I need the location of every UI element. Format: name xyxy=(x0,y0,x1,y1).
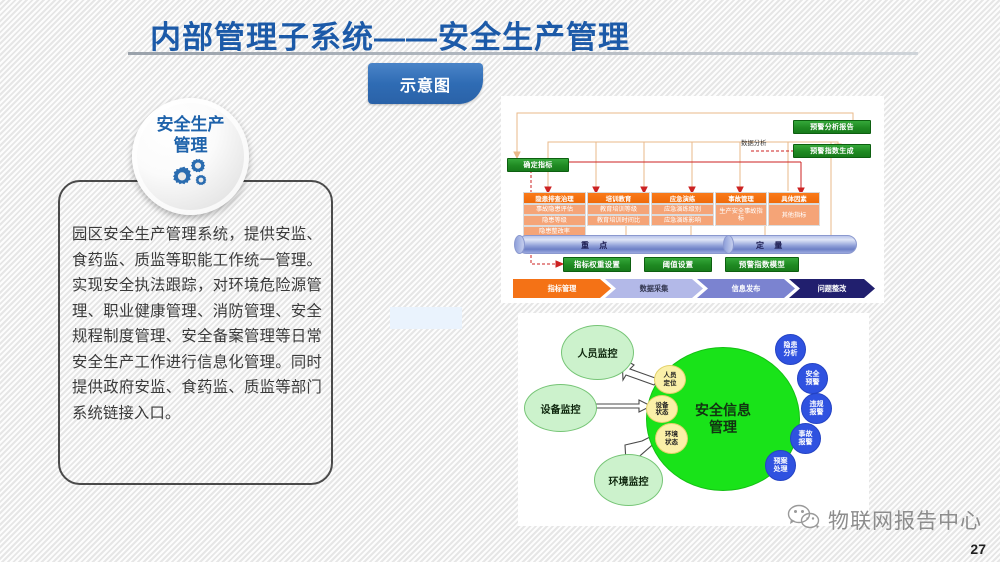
watermark: 物联网报告中心 xyxy=(787,504,982,536)
watermark-text: 物联网报告中心 xyxy=(828,505,982,535)
process-step-0-label: 指标管理 xyxy=(548,284,577,294)
description-text: 园区安全生产管理系统，提供安监、食药监、质监等职能工作统一管理。实现安全执法跟踪… xyxy=(72,222,322,426)
tab-schematic[interactable]: 示意图 xyxy=(368,63,483,104)
setting-box-1: 阈值设置 xyxy=(644,257,712,272)
state-bubble-1-line-1: 设备 xyxy=(656,402,669,410)
output-bubble-1-line-2: 预警 xyxy=(806,379,820,387)
state-bubble-1: 设备 状态 xyxy=(646,395,678,423)
report-box-1-label: 预警指数生成 xyxy=(810,146,854,156)
safety-info-bubble-diagram: 安全信息 管理 人员监控 设备监控 环境监控 人员 定位 设备 状态 环境 xyxy=(518,313,869,526)
state-bubble-0: 人员 定位 xyxy=(654,365,686,394)
column-sub-4-0: 其他指标 xyxy=(768,204,820,226)
column-sub-1-0: 教育培训等级 xyxy=(587,204,650,215)
setting-box-0-label: 指标权重设置 xyxy=(574,259,620,270)
state-bubble-1-line-2: 状态 xyxy=(656,409,669,417)
setting-box-0: 指标权重设置 xyxy=(563,257,631,272)
monitor-bubble-2: 环境监控 xyxy=(594,454,663,506)
monitor-bubble-2-label: 环境监控 xyxy=(609,473,649,488)
column-head-4-label: 具体因素 xyxy=(781,194,807,203)
report-box-1: 预警指数生成 xyxy=(793,144,871,158)
state-bubble-2: 环境 状态 xyxy=(655,423,688,454)
output-bubble-0-line-1: 隐患 xyxy=(784,342,798,350)
column-sub-0-1-label: 隐患等级 xyxy=(542,217,567,224)
process-step-2-label: 信息发布 xyxy=(732,284,761,294)
output-bubble-4: 预案 处理 xyxy=(765,450,796,481)
cylinder-cap-mid xyxy=(723,235,734,254)
column-head-0: 隐患排查治理 xyxy=(523,192,586,204)
setting-box-2: 预警指数模型 xyxy=(725,257,799,272)
section-badge: 安全生产 管理 xyxy=(132,98,249,215)
column-sub-3-0: 生产安全事故指标 xyxy=(715,204,767,226)
setting-box-2-label: 预警指数模型 xyxy=(739,259,785,270)
process-step-1-label: 数据采集 xyxy=(640,284,669,294)
core-line-2: 管理 xyxy=(695,419,751,436)
column-sub-4-0-label: 其他指标 xyxy=(782,212,807,219)
indicator-flow-diagram: 确定指标 数据分析 预警分析报告 预警指数生成 隐患排查治理 事故隐患评估 隐患… xyxy=(501,96,884,303)
output-bubble-0-line-2: 分析 xyxy=(784,350,798,358)
process-step-1: 数据采集 xyxy=(605,279,703,298)
cylinder-bar xyxy=(517,235,857,254)
column-sub-1-1-label: 教育培训时间比 xyxy=(597,217,640,224)
column-head-2: 应急演练 xyxy=(651,192,714,204)
column-head-1: 培训教育 xyxy=(587,192,650,204)
cylinder-cap-left xyxy=(514,235,525,254)
column-sub-0-0-label: 事故隐患评估 xyxy=(536,206,573,213)
output-bubble-4-line-2: 处理 xyxy=(774,466,788,474)
process-step-3: 问题整改 xyxy=(789,279,875,298)
report-box-0-label: 预警分析报告 xyxy=(810,122,854,132)
column-sub-0-1: 隐患等级 xyxy=(523,215,586,226)
state-bubble-0-line-1: 人员 xyxy=(664,372,677,380)
badge-line-2: 管理 xyxy=(174,135,208,156)
state-bubble-2-line-1: 环境 xyxy=(665,431,678,439)
tab-label: 示意图 xyxy=(400,72,451,96)
cylinder-label-1: 定 量 xyxy=(756,240,786,251)
column-head-2-label: 应急演练 xyxy=(670,194,696,203)
monitor-bubble-1-label: 设备监控 xyxy=(541,401,581,416)
output-bubble-2: 违规 报警 xyxy=(801,393,832,424)
output-bubble-1: 安全 预警 xyxy=(797,363,828,394)
page-number: 27 xyxy=(970,541,986,557)
data-analysis-label: 数据分析 xyxy=(741,138,767,147)
schematic-top-panel: 确定指标 数据分析 预警分析报告 预警指数生成 隐患排查治理 事故隐患评估 隐患… xyxy=(501,96,884,303)
state-bubble-0-line-2: 定位 xyxy=(664,380,677,388)
process-step-0: 指标管理 xyxy=(513,279,611,298)
column-head-3: 事故管理 xyxy=(715,192,767,204)
flow-start-box: 确定指标 xyxy=(507,158,569,172)
column-sub-1-0-label: 教育培训等级 xyxy=(600,206,637,213)
column-sub-3-0-label: 生产安全事故指标 xyxy=(719,208,763,222)
monitor-bubble-1: 设备监控 xyxy=(524,384,597,432)
column-sub-2-1: 应急演练影响 xyxy=(651,215,714,226)
gears-icon xyxy=(168,158,214,193)
column-head-1-label: 培训教育 xyxy=(606,194,632,203)
process-step-3-label: 问题整改 xyxy=(818,284,847,294)
column-sub-2-0-label: 应急演练级别 xyxy=(664,206,701,213)
schematic-bottom-panel: 安全信息 管理 人员监控 设备监控 环境监控 人员 定位 设备 状态 环境 xyxy=(518,313,869,526)
state-bubble-2-line-2: 状态 xyxy=(665,439,678,447)
column-sub-1-1: 教育培训时间比 xyxy=(587,215,650,226)
monitor-bubble-0: 人员监控 xyxy=(561,325,634,380)
output-bubble-2-line-2: 报警 xyxy=(810,409,824,417)
column-sub-0-2-label: 隐患整改率 xyxy=(539,228,570,235)
output-bubble-1-line-1: 安全 xyxy=(806,371,820,379)
cylinder-label-0: 重 点 xyxy=(581,240,611,251)
core-line-1: 安全信息 xyxy=(695,402,751,419)
column-sub-0-0: 事故隐患评估 xyxy=(523,204,586,215)
column-head-4: 具体因素 xyxy=(768,192,820,204)
column-sub-2-0: 应急演练级别 xyxy=(651,204,714,215)
slide-background: 内部管理子系统——安全生产管理 示意图 安全生产 管理 园区安全生产管理系统，提… xyxy=(0,0,1000,562)
output-bubble-4-line-1: 预案 xyxy=(774,458,788,466)
output-bubble-3: 事故 报警 xyxy=(790,423,821,454)
flow-start-label: 确定指标 xyxy=(523,160,552,170)
output-bubble-2-line-1: 违规 xyxy=(810,401,824,409)
wechat-icon xyxy=(787,504,821,536)
column-head-3-label: 事故管理 xyxy=(728,194,754,203)
output-bubble-0: 隐患 分析 xyxy=(775,334,806,365)
monitor-bubble-0-label: 人员监控 xyxy=(578,345,618,360)
page-title: 内部管理子系统——安全生产管理 xyxy=(150,12,630,57)
badge-line-1: 安全生产 xyxy=(157,114,225,135)
report-box-0: 预警分析报告 xyxy=(793,120,871,134)
title-divider xyxy=(128,52,918,55)
output-bubble-3-line-2: 报警 xyxy=(799,439,813,447)
setting-box-1-label: 阈值设置 xyxy=(663,259,694,270)
output-bubble-3-line-1: 事故 xyxy=(799,431,813,439)
decorative-rect xyxy=(390,307,462,329)
process-step-2: 信息发布 xyxy=(697,279,795,298)
column-head-0-label: 隐患排查治理 xyxy=(535,194,573,203)
column-sub-2-1-label: 应急演练影响 xyxy=(664,217,701,224)
